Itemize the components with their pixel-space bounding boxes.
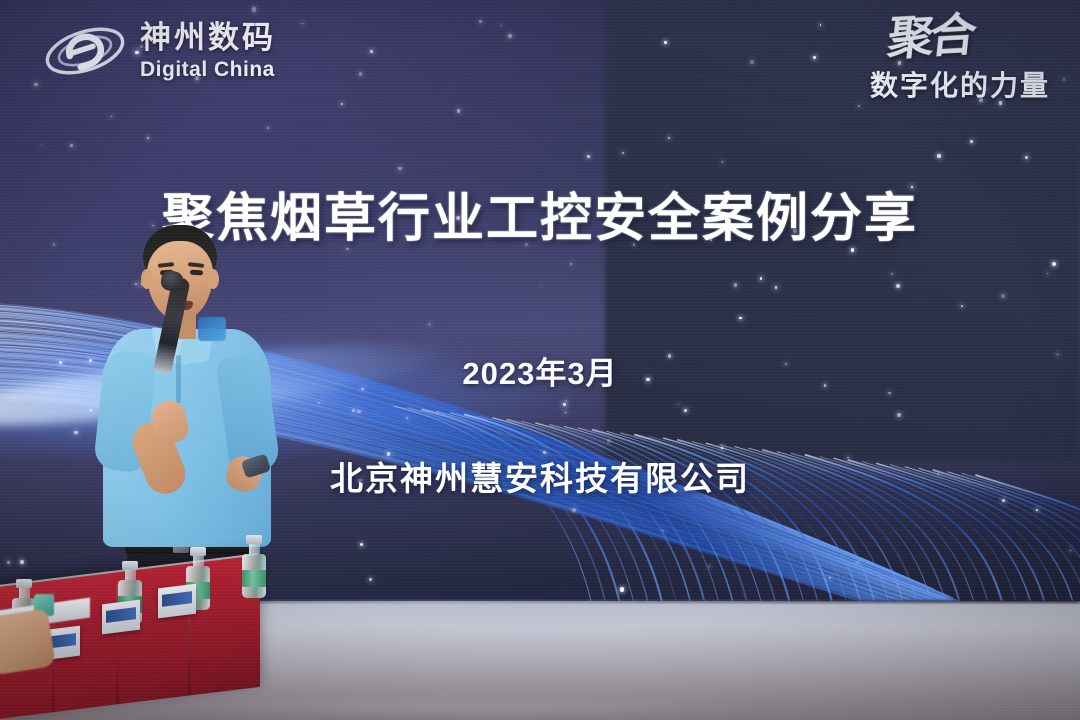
water-bottle [242,535,266,598]
bottle-cap [190,547,206,556]
presenter-ear-right [207,269,219,289]
conference-stage-photo: 神州数码 Digital China 聚合 数字化的力量 聚焦烟草行业工控安全案… [0,0,1080,720]
digital-china-swirl-icon [44,18,126,84]
bottle-neck [19,588,30,598]
name-card-print [162,591,192,607]
bottle-cap [122,561,138,570]
brand-name-en: Digital China [140,59,276,80]
company-emblem-icon [198,317,226,341]
bottle-neck [193,556,204,566]
digital-china-logo: 神州数码 Digital China [44,18,276,84]
name-card [158,584,196,619]
name-card-print [106,607,136,623]
bottle-cap [16,579,32,588]
bottle-label [242,570,266,587]
presenter-eye-right [190,270,203,276]
event-subtitle: 数字化的力量 [870,64,1050,104]
presenter-ear-left [141,269,153,289]
name-card [102,600,140,635]
bottle-body [242,554,266,598]
presenter-placket [176,355,181,403]
event-lockup: 聚合 数字化的力量 [870,16,1050,104]
event-calligraphy: 聚合 [867,13,974,62]
bottle-neck [249,544,260,554]
bottle-cap [246,535,262,544]
digital-china-wordmark: 神州数码 Digital China [140,22,276,80]
brand-name-cn: 神州数码 [140,22,276,53]
foreground-table [0,560,270,720]
bottle-neck [125,570,136,580]
